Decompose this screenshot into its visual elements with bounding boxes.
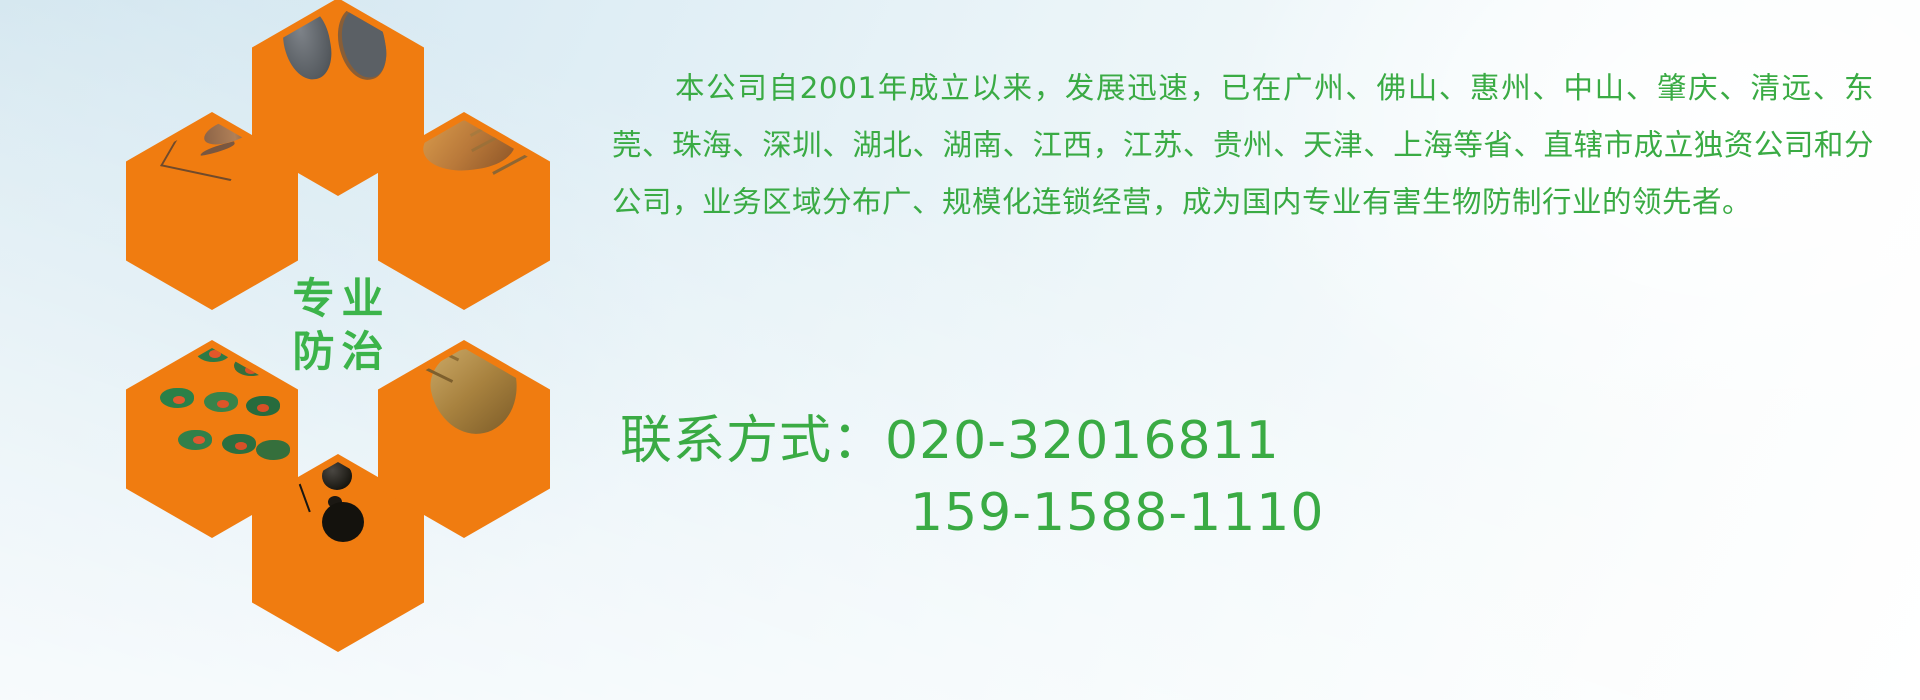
about-paragraph: 本公司自2001年成立以来，发展迅速，已在广州、佛山、惠州、中山、肇庆、清远、东… [612, 60, 1874, 231]
contact-label: 联系方式： [620, 411, 885, 471]
promo-banner: 专业 防治 本公司自2001年成立以来，发展迅速，已在广州、佛山、惠州、中山、肇… [0, 0, 1920, 700]
contact-block: 联系方式：020-32016811 159-1588-1110 [620, 405, 1324, 549]
contact-line-mobile: 159-1588-1110 [620, 477, 1324, 549]
contact-phone-mobile[interactable]: 159-1588-1110 [910, 483, 1324, 543]
slogan-line-2: 防治 [285, 328, 390, 375]
contact-phone-landline[interactable]: 020-32016811 [885, 411, 1280, 471]
about-copy-block: 本公司自2001年成立以来，发展迅速，已在广州、佛山、惠州、中山、肇庆、清远、东… [612, 30, 1874, 260]
hexagon-photo-cluster: 专业 防治 [88, 0, 588, 562]
slogan-line-1: 专业 [285, 275, 390, 322]
contact-line-landline: 联系方式：020-32016811 [620, 405, 1324, 477]
